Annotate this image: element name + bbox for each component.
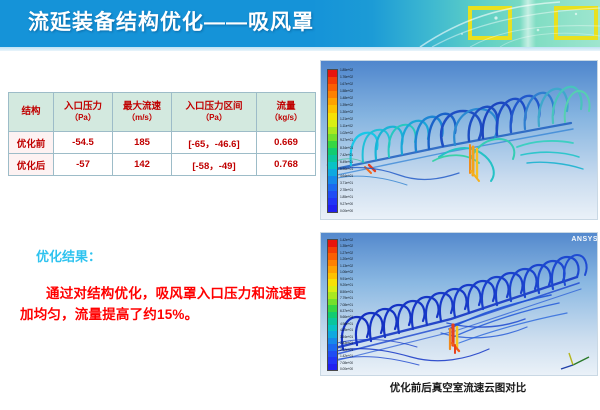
- legend-tick: 1.39e+02: [340, 104, 353, 107]
- slide-canvas: 流延装备结构优化——吸风罩 结构 入口压力 （Pa） 最大流速 （m/s） 入口…: [0, 0, 600, 410]
- cell-flow-rate: 0.768: [257, 154, 316, 176]
- legend-tick-labels: 1.85e+02 1.76e+02 1.67e+02 1.58e+02 1.48…: [340, 69, 351, 213]
- legend-tick: 4.64e+01: [340, 174, 353, 177]
- legend-tick: 9.20e+01: [340, 284, 353, 287]
- legend-tick: 7.08e+01: [340, 303, 353, 306]
- legend-tick: 5.56e+01: [340, 167, 353, 170]
- legend-tick: 8.34e+01: [340, 146, 353, 149]
- legend-color-bar: [327, 239, 338, 371]
- legend-tick: 6.37e+01: [340, 310, 353, 313]
- legend-tick: 6.49e+01: [340, 160, 353, 163]
- cell-pressure-range: [-58，-49]: [172, 154, 257, 176]
- table-col-header-pressure-range: 入口压力区间 （Pa）: [172, 93, 257, 132]
- cfd-streamlines-after: [321, 233, 597, 375]
- cell-inlet-pressure: -57: [54, 154, 113, 176]
- legend-tick: 7.79e+01: [340, 297, 353, 300]
- slide-header-band: 流延装备结构优化——吸风罩: [0, 0, 600, 47]
- legend-tick: 1.58e+02: [340, 90, 353, 93]
- legend-tick: 1.30e+02: [340, 111, 353, 114]
- legend-tick: 1.48e+02: [340, 97, 353, 100]
- color-legend-after: 1.42e+02 1.35e+02 1.27e+02 1.20e+02 1.13…: [327, 239, 351, 371]
- legend-tick: 9.27e+01: [340, 139, 353, 142]
- legend-tick: 9.27e+00: [340, 203, 353, 206]
- cfd-streamlines-before: [321, 61, 597, 219]
- legend-tick: 2.78e+01: [340, 189, 353, 192]
- col-unit: （Pa）: [54, 113, 112, 123]
- cell-pressure-range: [-65，-46.6]: [172, 132, 257, 154]
- header-underline: [0, 47, 600, 51]
- page-title: 流延装备结构优化——吸风罩: [28, 6, 314, 36]
- legend-tick: 2.12e+01: [340, 348, 353, 351]
- legend-tick: 9.91e+01: [340, 277, 353, 280]
- legend-tick: 3.71e+01: [340, 181, 353, 184]
- legend-tick: 2.83e+01: [340, 342, 353, 345]
- legend-tick: 1.76e+02: [340, 76, 353, 79]
- col-label: 入口压力区间: [185, 101, 242, 112]
- legend-tick: 0.00e+00: [340, 368, 353, 371]
- conclusion-label: 优化结果：: [36, 246, 101, 265]
- cell-max-velocity: 142: [113, 154, 172, 176]
- col-unit: （kg/s）: [257, 113, 315, 123]
- legend-tick: 1.67e+02: [340, 83, 353, 86]
- legend-tick: 1.85e+02: [340, 69, 353, 72]
- legend-tick: 1.85e+01: [340, 196, 353, 199]
- legend-tick-labels: 1.42e+02 1.35e+02 1.27e+02 1.20e+02 1.13…: [340, 239, 351, 371]
- col-label: 入口压力: [64, 101, 102, 112]
- legend-tick: 1.20e+02: [340, 258, 353, 261]
- legend-tick: 5.66e+01: [340, 316, 353, 319]
- ansys-watermark: ANSYS: [571, 236, 598, 243]
- col-unit: （m/s）: [113, 113, 171, 123]
- legend-tick: 7.42e+01: [340, 153, 353, 156]
- table-col-header-max-velocity: 最大流速 （m/s）: [113, 93, 172, 132]
- ansys-watermark: ANSYS: [572, 219, 598, 220]
- table-header-row: 结构 入口压力 （Pa） 最大流速 （m/s） 入口压力区间 （Pa） 流量 （…: [9, 93, 316, 132]
- comparison-table: 结构 入口压力 （Pa） 最大流速 （m/s） 入口压力区间 （Pa） 流量 （…: [8, 92, 316, 176]
- legend-tick: 4.25e+01: [340, 329, 353, 332]
- cfd-image-before: 1.85e+02 1.76e+02 1.67e+02 1.58e+02 1.48…: [320, 60, 598, 220]
- col-label: 最大流速: [123, 101, 161, 112]
- table-col-header-inlet-pressure: 入口压力 （Pa）: [54, 93, 113, 132]
- legend-tick: 1.27e+02: [340, 252, 353, 255]
- legend-color-bar: [327, 69, 338, 213]
- col-unit: （Pa）: [172, 113, 256, 123]
- legend-tick: 1.11e+02: [340, 125, 353, 128]
- cell-structure: 优化后: [9, 154, 54, 176]
- legend-tick: 1.21e+02: [340, 118, 353, 121]
- legend-tick: 1.02e+02: [340, 132, 353, 135]
- legend-tick: 8.50e+01: [340, 290, 353, 293]
- color-legend-before: 1.85e+02 1.76e+02 1.67e+02 1.58e+02 1.48…: [327, 69, 351, 213]
- table-col-header-flow-rate: 流量 （kg/s）: [257, 93, 316, 132]
- legend-tick: 1.42e+02: [340, 239, 353, 242]
- legend-tick: 4.96e+01: [340, 323, 353, 326]
- legend-tick: 1.35e+02: [340, 245, 353, 248]
- cell-max-velocity: 185: [113, 132, 172, 154]
- cell-inlet-pressure: -54.5: [54, 132, 113, 154]
- legend-tick: 7.08e+00: [340, 361, 353, 364]
- col-label: 结构: [21, 106, 40, 117]
- legend-tick: 1.06e+02: [340, 271, 353, 274]
- legend-tick: 3.54e+01: [340, 336, 353, 339]
- figure-caption: 优化前后真空室流速云图对比: [320, 380, 596, 395]
- conclusion-body: 通过对结构优化，吸风罩入口压力和流速更加均匀，流量提高了约15%。: [20, 284, 316, 326]
- cell-structure: 优化前: [9, 132, 54, 154]
- table-row: 优化前 -54.5 185 [-65，-46.6] 0.669: [9, 132, 316, 154]
- col-label: 流量: [276, 101, 295, 112]
- table-row: 优化后 -57 142 [-58，-49] 0.768: [9, 154, 316, 176]
- legend-tick: 1.42e+01: [340, 355, 353, 358]
- legend-tick: 1.13e+02: [340, 265, 353, 268]
- cell-flow-rate: 0.669: [257, 132, 316, 154]
- table-col-header-structure: 结构: [9, 93, 54, 132]
- legend-tick: 0.00e+00: [340, 210, 353, 213]
- cfd-image-after: 1.42e+02 1.35e+02 1.27e+02 1.20e+02 1.13…: [320, 232, 598, 376]
